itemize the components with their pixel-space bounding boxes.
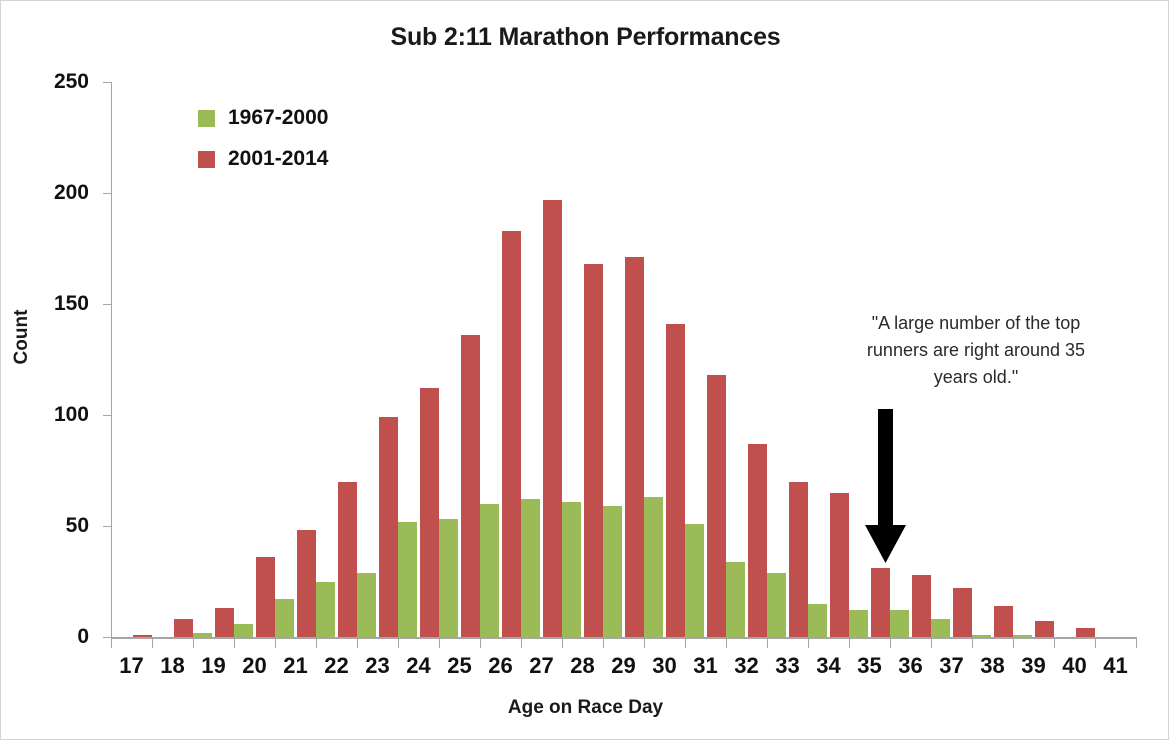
legend-swatch-icon-red bbox=[198, 151, 215, 168]
x-axis-tick-mark bbox=[767, 639, 768, 648]
bar-1967-2000-age-26[interactable] bbox=[480, 504, 499, 637]
bar-1967-2000-age-31[interactable] bbox=[685, 524, 704, 637]
bar-group bbox=[603, 82, 644, 637]
bar-2001-2014-age-29[interactable] bbox=[625, 257, 644, 637]
x-axis-tick-label-21: 21 bbox=[283, 653, 307, 679]
bar-2001-2014-age-39[interactable] bbox=[1035, 621, 1054, 637]
y-axis-tick-label: 250 bbox=[27, 70, 89, 94]
x-axis-tick-mark bbox=[1054, 639, 1055, 648]
x-axis-tick-label-17: 17 bbox=[119, 653, 143, 679]
x-axis-tick-mark bbox=[685, 639, 686, 648]
bar-1967-2000-age-34[interactable] bbox=[808, 604, 827, 637]
x-axis-tick-label-38: 38 bbox=[980, 653, 1004, 679]
bar-2001-2014-age-26[interactable] bbox=[502, 231, 521, 637]
y-axis-tick-mark bbox=[103, 415, 112, 416]
bar-group bbox=[644, 82, 685, 637]
x-axis-tick-mark bbox=[111, 639, 112, 648]
x-axis-tick-mark bbox=[890, 639, 891, 648]
bar-1967-2000-age-22[interactable] bbox=[316, 582, 335, 638]
bar-group bbox=[808, 82, 849, 637]
y-axis-tick-mark bbox=[103, 304, 112, 305]
bar-2001-2014-age-27[interactable] bbox=[543, 200, 562, 637]
legend-label-red: 2001-2014 bbox=[228, 147, 328, 171]
bar-1967-2000-age-25[interactable] bbox=[439, 519, 458, 637]
bar-1967-2000-age-35[interactable] bbox=[849, 610, 868, 637]
x-axis-tick-mark bbox=[193, 639, 194, 648]
bar-group bbox=[111, 82, 152, 637]
bar-1967-2000-age-27[interactable] bbox=[521, 499, 540, 637]
x-axis-tick-label-22: 22 bbox=[324, 653, 348, 679]
x-axis-tick-label-36: 36 bbox=[898, 653, 922, 679]
y-axis-tick-label: 0 bbox=[27, 625, 89, 649]
bar-2001-2014-age-40[interactable] bbox=[1076, 628, 1095, 637]
x-axis-tick-label-28: 28 bbox=[570, 653, 594, 679]
bar-1967-2000-age-23[interactable] bbox=[357, 573, 376, 637]
x-axis-tick-mark bbox=[972, 639, 973, 648]
x-axis-tick-label-25: 25 bbox=[447, 653, 471, 679]
bar-1967-2000-age-29[interactable] bbox=[603, 506, 622, 637]
x-axis-title: Age on Race Day bbox=[1, 697, 1169, 719]
bar-1967-2000-age-24[interactable] bbox=[398, 522, 417, 637]
x-axis-tick-label-32: 32 bbox=[734, 653, 758, 679]
x-axis-tick-label-35: 35 bbox=[857, 653, 881, 679]
legend-label-green: 1967-2000 bbox=[228, 106, 328, 130]
x-axis-tick-label-24: 24 bbox=[406, 653, 430, 679]
x-axis-tick-label-37: 37 bbox=[939, 653, 963, 679]
bar-2001-2014-age-23[interactable] bbox=[379, 417, 398, 637]
x-axis-tick-mark bbox=[1013, 639, 1014, 648]
x-axis-tick-label-33: 33 bbox=[775, 653, 799, 679]
x-axis-tick-label-18: 18 bbox=[160, 653, 184, 679]
bar-group bbox=[1095, 82, 1136, 637]
bar-group bbox=[152, 82, 193, 637]
x-axis-tick-label-27: 27 bbox=[529, 653, 553, 679]
bar-2001-2014-age-24[interactable] bbox=[420, 388, 439, 637]
bar-2001-2014-age-30[interactable] bbox=[666, 324, 685, 637]
x-axis-tick-mark bbox=[398, 639, 399, 648]
bar-2001-2014-age-19[interactable] bbox=[215, 608, 234, 637]
bar-1967-2000-age-21[interactable] bbox=[275, 599, 294, 637]
x-axis-tick-mark bbox=[644, 639, 645, 648]
x-axis-tick-mark bbox=[603, 639, 604, 648]
x-axis-tick-mark bbox=[152, 639, 153, 648]
bar-2001-2014-age-20[interactable] bbox=[256, 557, 275, 637]
bar-group bbox=[685, 82, 726, 637]
bar-1967-2000-age-37[interactable] bbox=[931, 619, 950, 637]
bar-group bbox=[562, 82, 603, 637]
x-axis-tick-mark bbox=[1095, 639, 1096, 648]
bar-2001-2014-age-28[interactable] bbox=[584, 264, 603, 637]
y-axis-tick-mark bbox=[103, 637, 112, 638]
bar-2001-2014-age-35[interactable] bbox=[871, 568, 890, 637]
y-axis-tick-label: 150 bbox=[27, 292, 89, 316]
bar-2001-2014-age-37[interactable] bbox=[953, 588, 972, 637]
bar-2001-2014-age-34[interactable] bbox=[830, 493, 849, 637]
x-axis-tick-mark bbox=[316, 639, 317, 648]
x-axis-tick-mark bbox=[234, 639, 235, 648]
legend-item-2[interactable]: 2001-2014 bbox=[198, 147, 328, 171]
chart-title: Sub 2:11 Marathon Performances bbox=[1, 23, 1169, 52]
bar-group bbox=[439, 82, 480, 637]
y-axis-tick-label: 100 bbox=[27, 403, 89, 427]
x-axis-tick-label-39: 39 bbox=[1021, 653, 1045, 679]
x-axis-tick-label-40: 40 bbox=[1062, 653, 1086, 679]
x-axis-tick-mark bbox=[562, 639, 563, 648]
bar-2001-2014-age-22[interactable] bbox=[338, 482, 357, 637]
bar-2001-2014-age-38[interactable] bbox=[994, 606, 1013, 637]
bar-group bbox=[398, 82, 439, 637]
bar-2001-2014-age-21[interactable] bbox=[297, 530, 316, 637]
bar-2001-2014-age-18[interactable] bbox=[174, 619, 193, 637]
annotation-callout-text: "A large number of the top runners are r… bbox=[853, 310, 1099, 391]
bar-group bbox=[357, 82, 398, 637]
bar-1967-2000-age-36[interactable] bbox=[890, 610, 909, 637]
x-axis-tick-label-30: 30 bbox=[652, 653, 676, 679]
x-axis-tick-label-20: 20 bbox=[242, 653, 266, 679]
x-axis-tick-label-23: 23 bbox=[365, 653, 389, 679]
x-axis-tick-mark bbox=[275, 639, 276, 648]
bar-2001-2014-age-36[interactable] bbox=[912, 575, 931, 637]
chart-page: Sub 2:11 Marathon Performances Count 050… bbox=[0, 0, 1169, 740]
x-axis-tick-label-41: 41 bbox=[1103, 653, 1127, 679]
x-axis-tick-mark bbox=[808, 639, 809, 648]
bar-group bbox=[521, 82, 562, 637]
x-axis-tick-mark bbox=[521, 639, 522, 648]
x-axis-tick-label-34: 34 bbox=[816, 653, 840, 679]
bar-2001-2014-age-25[interactable] bbox=[461, 335, 480, 637]
y-axis-tick-mark bbox=[103, 82, 112, 83]
y-axis-tick-label: 200 bbox=[27, 181, 89, 205]
bar-1967-2000-age-28[interactable] bbox=[562, 502, 581, 637]
bar-2001-2014-age-32[interactable] bbox=[748, 444, 767, 637]
bar-1967-2000-age-32[interactable] bbox=[726, 562, 745, 637]
bar-group bbox=[767, 82, 808, 637]
bar-1967-2000-age-33[interactable] bbox=[767, 573, 786, 637]
x-axis-tick-label-29: 29 bbox=[611, 653, 635, 679]
y-axis-tick-mark bbox=[103, 193, 112, 194]
y-axis-tick-mark bbox=[103, 526, 112, 527]
bar-2001-2014-age-31[interactable] bbox=[707, 375, 726, 637]
bar-group bbox=[726, 82, 767, 637]
bar-2001-2014-age-33[interactable] bbox=[789, 482, 808, 637]
bar-1967-2000-age-30[interactable] bbox=[644, 497, 663, 637]
legend-swatch-icon-green bbox=[198, 110, 215, 127]
x-axis-tick-mark bbox=[931, 639, 932, 648]
x-axis-tick-label-31: 31 bbox=[693, 653, 717, 679]
x-axis-tick-mark bbox=[1136, 639, 1137, 648]
x-axis-tick-mark bbox=[726, 639, 727, 648]
x-axis-tick-mark bbox=[849, 639, 850, 648]
x-axis-tick-mark bbox=[480, 639, 481, 648]
bar-1967-2000-age-20[interactable] bbox=[234, 624, 253, 637]
y-axis-tick-label: 50 bbox=[27, 514, 89, 538]
x-axis-tick-mark bbox=[357, 639, 358, 648]
bar-group bbox=[480, 82, 521, 637]
legend-item-1[interactable]: 1967-2000 bbox=[198, 106, 328, 130]
chart-legend: 1967-2000 2001-2014 bbox=[198, 106, 328, 188]
x-axis-line bbox=[111, 637, 1137, 639]
x-axis-tick-label-26: 26 bbox=[488, 653, 512, 679]
x-axis-tick-mark bbox=[439, 639, 440, 648]
x-axis-tick-label-19: 19 bbox=[201, 653, 225, 679]
y-axis-tick-labels: 050100150200250 bbox=[21, 1, 89, 740]
down-arrow-icon bbox=[865, 409, 906, 563]
